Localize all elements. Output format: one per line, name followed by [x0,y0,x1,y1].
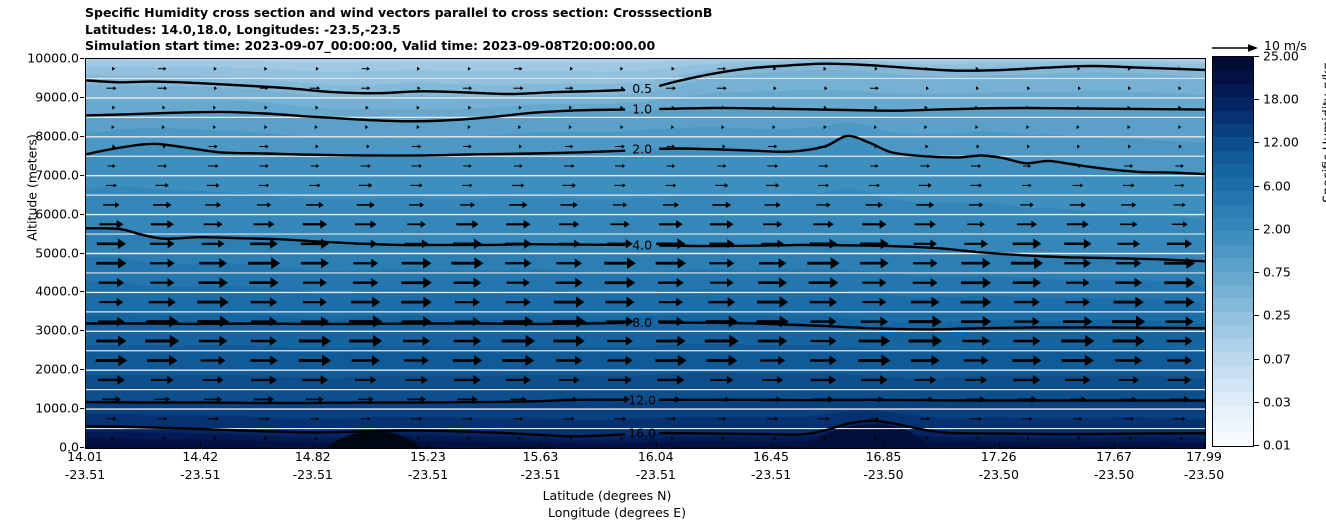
x-tick-mark [540,443,541,447]
colorbar-tick-label: 0.01 [1263,438,1291,453]
x-tick-latitude: 17.67 [1094,448,1134,466]
x-tick-label-group: 14.01-23.51 [65,448,105,484]
y-tick-label: 10000.0 [5,51,79,66]
colorbar-band [1213,392,1253,406]
colorbar-band [1213,164,1253,178]
x-tick-latitude: 17.99 [1184,448,1224,466]
colorbar-tick-mark [1254,272,1259,273]
x-tick-label-group: 15.23-23.51 [408,448,448,484]
colorbar-tick-mark [1254,229,1259,230]
contour-label: 1.0 [632,102,652,117]
x-tick-longitude: -23.51 [636,466,676,484]
colorbar-tick-mark [1254,186,1259,187]
y-axis-title: Altitude (meters) [25,63,40,313]
y-tick-mark [80,291,84,292]
colorbar-tick-mark [1254,445,1259,446]
y-tick-mark [80,175,84,176]
x-axis-title-longitude: Longitude (degrees E) [85,504,1204,521]
colorbar-tick-mark [1254,402,1259,403]
y-tick-mark [80,97,84,98]
colorbar-band [1213,124,1253,138]
colorbar-band [1213,97,1253,111]
x-tick-latitude: 16.45 [751,448,791,466]
y-axis-ticks: 0.01000.02000.03000.04000.05000.06000.07… [0,58,79,447]
x-tick-label-group: 17.67-23.50 [1094,448,1134,484]
x-tick-latitude: 15.63 [520,448,560,466]
y-tick-mark [80,253,84,254]
colorbar-band [1213,151,1253,165]
y-tick-label: 4000.0 [5,284,79,299]
contour-label: 8.0 [632,315,652,330]
x-tick-mark [1114,443,1115,447]
colorbar-tick-label: 12.00 [1263,135,1299,150]
colorbar-band [1213,218,1253,232]
x-tick-mark [999,443,1000,447]
colorbar-tick-label: 2.00 [1263,221,1291,236]
colorbar-tick-label: 6.00 [1263,178,1291,193]
x-tick-latitude: 15.23 [408,448,448,466]
x-tick-longitude: -23.50 [979,466,1019,484]
colorbar-band [1213,419,1253,433]
x-tick-latitude: 14.82 [293,448,333,466]
colorbar-tick-label: 0.03 [1263,394,1291,409]
colorbar-tick-label: 0.07 [1263,351,1291,366]
x-tick-longitude: -23.51 [751,466,791,484]
figure-root: Specific Humidity cross section and wind… [0,0,1326,526]
contour-label: 4.0 [632,237,652,252]
colorbar-band [1213,298,1253,312]
x-tick-longitude: -23.50 [1184,466,1224,484]
colorbar-tick-mark [1254,359,1259,360]
y-tick-mark [80,136,84,137]
colorbar-band [1213,245,1253,259]
y-tick-mark [80,330,84,331]
y-tick-mark [80,58,84,59]
colorbar-tick-mark [1254,56,1259,57]
y-tick-label: 2000.0 [5,362,79,377]
colorbar-tick-label: 0.75 [1263,265,1291,280]
colorbar-ticks: 25.0018.0012.006.002.000.750.250.070.030… [1254,56,1324,447]
colorbar-band [1213,366,1253,380]
colorbar-tick-mark [1254,99,1259,100]
colorbar-tick-mark [1254,315,1259,316]
colorbar-band [1213,312,1253,326]
colorbar-band [1213,379,1253,393]
colorbar [1212,56,1254,447]
y-tick-mark [80,214,84,215]
colorbar-band [1213,178,1253,192]
right-arrow-icon [1212,41,1260,55]
x-tick-mark [771,443,772,447]
x-tick-mark [85,443,86,447]
y-tick-label: 7000.0 [5,167,79,182]
colorbar-band [1213,84,1253,98]
x-tick-label-group: 17.26-23.50 [979,448,1019,484]
y-tick-label: 3000.0 [5,323,79,338]
x-tick-mark [656,443,657,447]
x-tick-mark [313,443,314,447]
x-tick-latitude: 14.42 [180,448,220,466]
colorbar-band [1213,111,1253,125]
y-tick-label: 6000.0 [5,206,79,221]
colorbar-band [1213,70,1253,84]
colorbar-band [1213,137,1253,151]
humidity-contours: 0.51.02.04.08.012.016.0 [86,59,1205,448]
colorbar-band [1213,433,1253,447]
contour-label: 12.0 [628,392,656,407]
colorbar-band [1213,57,1253,71]
colorbar-band [1213,191,1253,205]
contour-label: 16.0 [628,426,656,441]
y-tick-label: 5000.0 [5,245,79,260]
colorbar-band [1213,339,1253,353]
title-line-1: Specific Humidity cross section and wind… [85,5,1205,22]
colorbar-tick-label: 18.00 [1263,92,1299,107]
y-tick-label: 1000.0 [5,401,79,416]
x-tick-label-group: 16.85-23.50 [863,448,903,484]
x-tick-label-group: 14.82-23.51 [293,448,333,484]
contour-label: 0.5 [632,81,652,96]
title-line-2: Latitudes: 14.0,18.0, Longitudes: -23.5,… [85,22,1205,39]
y-tick-label: 9000.0 [5,89,79,104]
y-tick-mark [80,369,84,370]
colorbar-band [1213,272,1253,286]
x-tick-longitude: -23.50 [1094,466,1134,484]
x-tick-label-group: 17.99-23.50 [1184,448,1224,484]
colorbar-title: Specific Humidity g/kg [1320,0,1326,268]
x-tick-longitude: -23.51 [65,466,105,484]
y-tick-mark [80,408,84,409]
x-tick-label-group: 14.42-23.51 [180,448,220,484]
colorbar-tick-mark [1254,142,1259,143]
colorbar-tick-label: 0.25 [1263,308,1291,323]
x-axis-title: Latitude (degrees N) Longitude (degrees … [85,487,1204,521]
contour-label: 2.0 [632,142,652,157]
colorbar-band [1213,325,1253,339]
cross-section-plot[interactable]: 0.51.02.04.08.012.016.0 [85,58,1206,449]
y-tick-label: 8000.0 [5,128,79,143]
x-tick-longitude: -23.51 [293,466,333,484]
x-tick-label-group: 16.04-23.51 [636,448,676,484]
x-tick-longitude: -23.51 [520,466,560,484]
x-tick-label-group: 15.63-23.51 [520,448,560,484]
x-tick-latitude: 16.85 [863,448,903,466]
x-tick-mark [428,443,429,447]
colorbar-band [1213,285,1253,299]
x-tick-mark [200,443,201,447]
x-tick-label-group: 16.45-23.51 [751,448,791,484]
figure-title: Specific Humidity cross section and wind… [85,5,1205,55]
x-tick-mark [883,443,884,447]
title-line-3: Simulation start time: 2023-09-07_00:00:… [85,38,1205,55]
colorbar-band [1213,352,1253,366]
x-axis-title-latitude: Latitude (degrees N) [85,487,1204,504]
colorbar-band [1213,258,1253,272]
x-tick-longitude: -23.51 [408,466,448,484]
colorbar-band [1213,205,1253,219]
x-tick-mark [1204,443,1205,447]
x-tick-longitude: -23.51 [180,466,220,484]
x-tick-latitude: 16.04 [636,448,676,466]
x-tick-longitude: -23.50 [863,466,903,484]
x-tick-latitude: 14.01 [65,448,105,466]
x-tick-latitude: 17.26 [979,448,1019,466]
colorbar-band [1213,406,1253,420]
colorbar-band [1213,231,1253,245]
colorbar-tick-label: 25.00 [1263,49,1299,64]
